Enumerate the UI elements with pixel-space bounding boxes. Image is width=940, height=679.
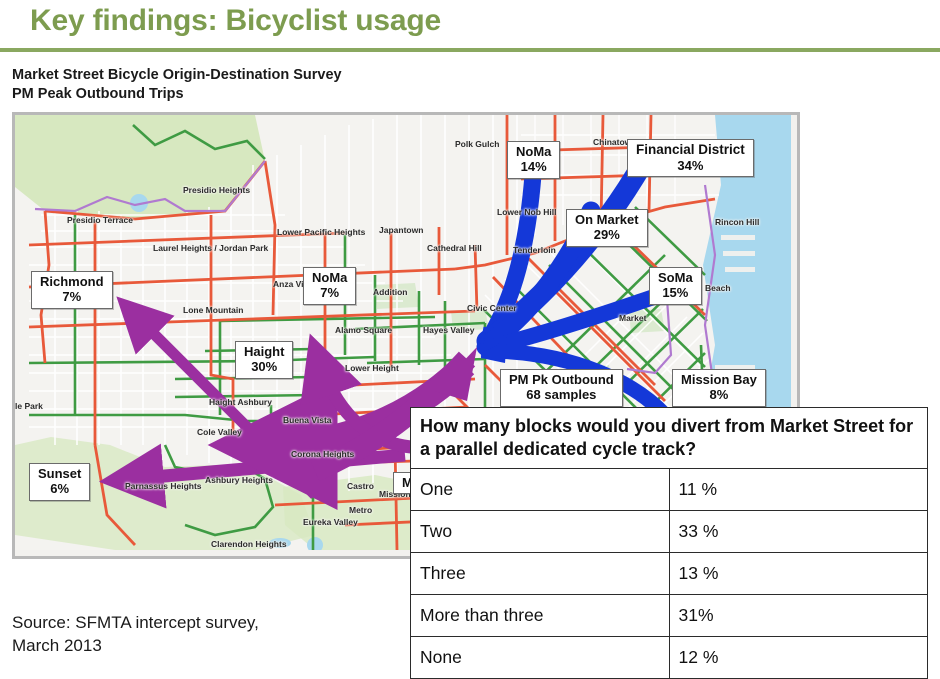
- answer-label: One: [411, 469, 670, 511]
- answer-value: 12 %: [669, 637, 928, 679]
- callout-noma-west[interactable]: NoMa 7%: [303, 267, 356, 305]
- answer-value: 13 %: [669, 553, 928, 595]
- callout-noma-east[interactable]: NoMa 14%: [507, 141, 560, 179]
- answer-value: 31%: [669, 595, 928, 637]
- callout-sunset[interactable]: Sunset 6%: [29, 463, 90, 501]
- callout-value: 15%: [658, 285, 693, 300]
- answer-value: 33 %: [669, 511, 928, 553]
- callout-richmond[interactable]: Richmond 7%: [31, 271, 113, 309]
- callout-value: 7%: [312, 285, 347, 300]
- callout-value: 29%: [575, 227, 639, 242]
- answer-label: Three: [411, 553, 670, 595]
- callout-name: Richmond: [40, 274, 104, 289]
- table-row: None 12 %: [411, 637, 928, 679]
- callout-name: PM Pk Outbound: [509, 372, 614, 387]
- callout-name: NoMa: [312, 270, 347, 285]
- table-row: Three 13 %: [411, 553, 928, 595]
- callout-soma[interactable]: SoMa 15%: [649, 267, 702, 305]
- callout-value: 8%: [681, 387, 757, 402]
- callout-name: Sunset: [38, 466, 81, 481]
- callout-origin-samples[interactable]: PM Pk Outbound 68 samples: [500, 369, 623, 407]
- answer-value: 11 %: [669, 469, 928, 511]
- callout-on-market[interactable]: On Market 29%: [566, 209, 648, 247]
- callout-name: NoMa: [516, 144, 551, 159]
- callout-name: SoMa: [658, 270, 693, 285]
- survey-question: How many blocks would you divert from Ma…: [411, 408, 928, 469]
- callout-name: Financial District: [636, 142, 745, 158]
- callout-value: 30%: [244, 359, 284, 374]
- callout-value: 68 samples: [509, 387, 614, 402]
- table-row: More than three 31%: [411, 595, 928, 637]
- answer-label: Two: [411, 511, 670, 553]
- map-caption-line-2: PM Peak Outbound Trips: [12, 85, 342, 104]
- title-divider: [0, 48, 940, 52]
- survey-results-table: How many blocks would you divert from Ma…: [410, 407, 928, 679]
- callout-value: 34%: [636, 158, 745, 173]
- callout-value: 14%: [516, 159, 551, 174]
- table-question-row: How many blocks would you divert from Ma…: [411, 408, 928, 469]
- callout-mission-bay[interactable]: Mission Bay 8%: [672, 369, 766, 407]
- page-title: Key findings: Bicyclist usage: [30, 4, 441, 38]
- map-caption: Market Street Bicycle Origin-Destination…: [12, 66, 342, 104]
- answer-label: More than three: [411, 595, 670, 637]
- callout-value: 6%: [38, 481, 81, 496]
- callout-name: On Market: [575, 212, 639, 227]
- source-note: Source: SFMTA intercept survey, March 20…: [12, 612, 259, 658]
- answer-label: None: [411, 637, 670, 679]
- callout-name: Mission Bay: [681, 372, 757, 387]
- callout-value: 7%: [40, 289, 104, 304]
- callout-name: Haight: [244, 344, 284, 359]
- table-row: One 11 %: [411, 469, 928, 511]
- callout-financial-district[interactable]: Financial District 34%: [627, 139, 754, 177]
- table-row: Two 33 %: [411, 511, 928, 553]
- callout-haight[interactable]: Haight 30%: [235, 341, 293, 379]
- map-caption-line-1: Market Street Bicycle Origin-Destination…: [12, 66, 342, 85]
